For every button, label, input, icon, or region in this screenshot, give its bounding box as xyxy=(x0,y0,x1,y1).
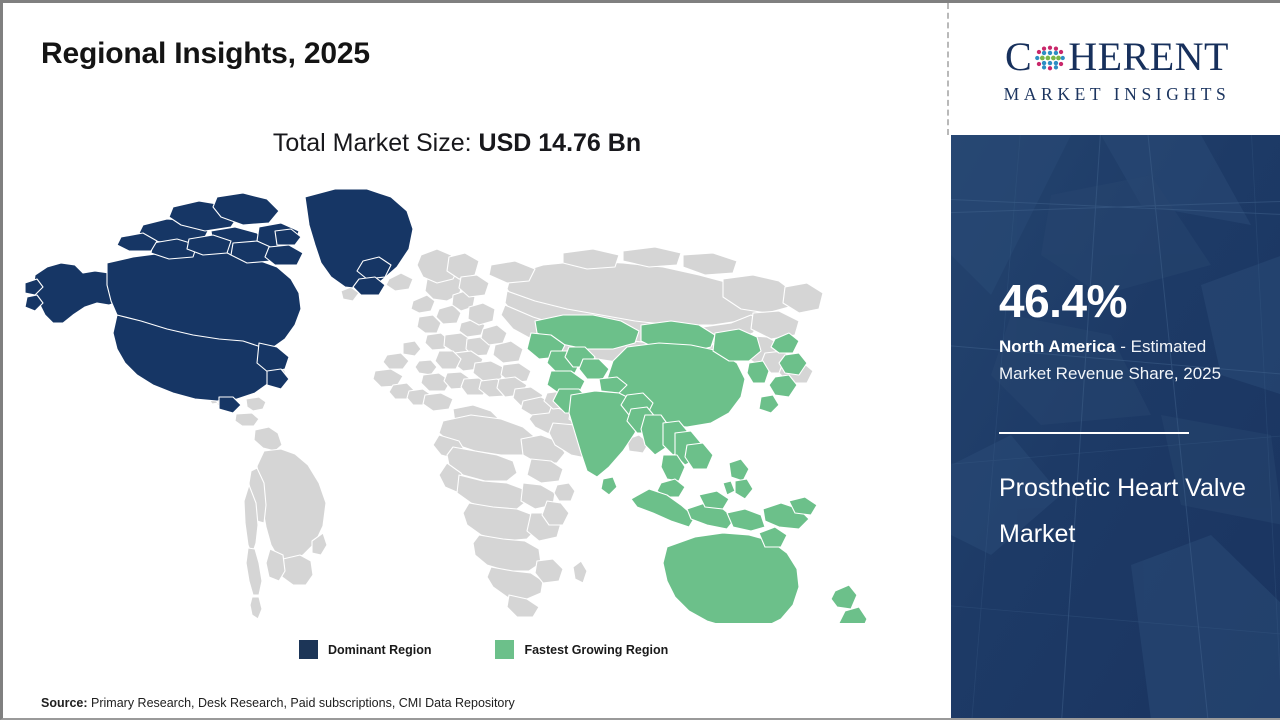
square-swatch-icon xyxy=(299,640,318,659)
source-note: Source: Primary Research, Desk Research,… xyxy=(41,696,515,710)
map-legend: Dominant Region Fastest Growing Region xyxy=(299,640,668,659)
stat-content: 46.4% North America - Estimated Market R… xyxy=(999,275,1261,387)
stat-percentage: 46.4% xyxy=(999,275,1261,327)
side-panel: C xyxy=(951,3,1280,720)
panel-background-texture xyxy=(951,135,1280,720)
legend-item-dominant: Dominant Region xyxy=(299,640,431,659)
world-map xyxy=(23,183,903,623)
vertical-dashed-divider xyxy=(947,3,949,135)
stat-description: North America - Estimated Market Revenue… xyxy=(999,333,1261,387)
legend-label-fastest-growing: Fastest Growing Region xyxy=(524,643,668,657)
logo-wordmark: C xyxy=(1005,34,1229,80)
brand-logo: C xyxy=(951,3,1280,135)
globe-dots-icon xyxy=(1033,41,1067,75)
logo-subtitle: MARKET INSIGHTS xyxy=(1004,84,1231,105)
map-region-south-america xyxy=(218,382,327,619)
market-size-label: Total Market Size: xyxy=(273,129,479,157)
panel-divider xyxy=(999,432,1189,434)
legend-label-dominant: Dominant Region xyxy=(328,643,431,657)
total-market-size: Total Market Size: USD 14.76 Bn xyxy=(3,129,911,158)
legend-item-fastest-growing: Fastest Growing Region xyxy=(495,640,668,659)
source-text: Primary Research, Desk Research, Paid su… xyxy=(88,696,515,710)
logo-word-before: C xyxy=(1005,37,1032,77)
source-label: Source: xyxy=(41,696,88,710)
map-region-north-america-dominant xyxy=(25,189,413,413)
square-swatch-icon xyxy=(495,640,514,659)
logo-word-after: HERENT xyxy=(1068,37,1229,77)
page-title: Regional Insights, 2025 xyxy=(41,37,370,71)
market-title: Prosthetic Heart Valve Market xyxy=(999,465,1249,557)
stat-region-name: North America xyxy=(999,337,1116,356)
world-map-svg xyxy=(23,183,903,623)
regional-insights-infographic: Regional Insights, 2025 Total Market Siz… xyxy=(0,0,1280,720)
stat-panel: 46.4% North America - Estimated Market R… xyxy=(951,135,1280,720)
map-panel: Regional Insights, 2025 Total Market Siz… xyxy=(3,3,948,720)
market-size-value: USD 14.76 Bn xyxy=(479,129,642,157)
